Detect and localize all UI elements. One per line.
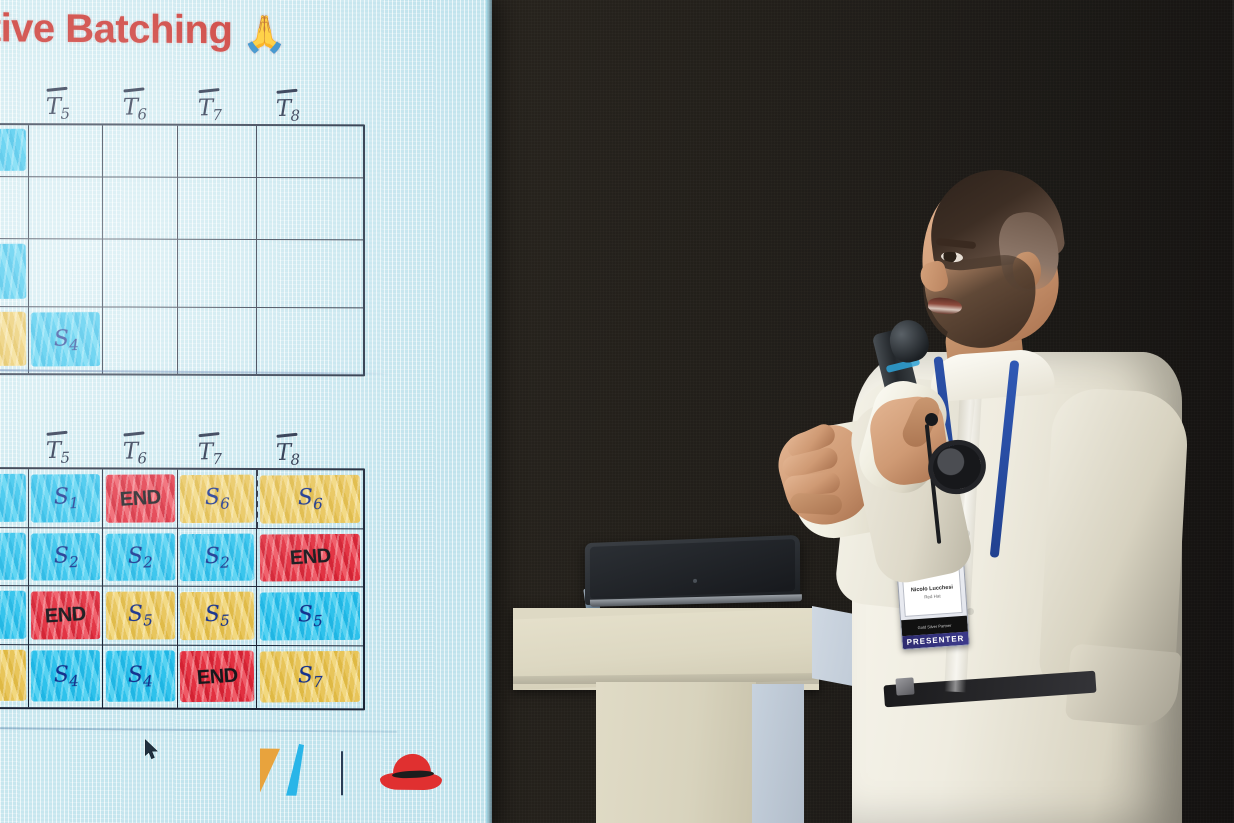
vllm-logo-right-wing [284,744,304,796]
cell-sequence-label: S1 [53,484,79,513]
cell-label-subscript: 5 [143,611,153,629]
table-cell: S7 [257,646,363,708]
table-cell: S3 [0,239,29,307]
cell-sequence-label: S5 [204,601,230,630]
table-cell [257,240,363,308]
upper-col-header-t5: T5 [46,94,71,123]
cell-end-marker: END [45,602,87,628]
upper-table-column-headers: T4 T5 T6 T7 T8 [0,86,370,126]
table-cell: S5 [103,586,177,645]
cell-highlight-blue [0,244,26,300]
podium-top [513,608,819,690]
lower-col-header-t7: T7 [198,439,223,468]
laptop-screen [590,539,795,599]
table-row [0,125,363,178]
table-cell: S2 [29,528,103,586]
cell-highlight-yellow [0,650,26,701]
lower-table-grid: S1ENDS6S6S2S2S2S2ENDS3ENDS5S5S5S4S4S4END… [0,467,365,710]
cell-sequence-label: S6 [297,485,323,514]
praying-hands-emoji: 🙏 [242,13,286,54]
table-cell: S4 [29,307,103,373]
table-row: S4S4S4ENDS7 [0,645,363,708]
vertical-divider [341,751,343,795]
table-row: S4S4 [0,307,363,374]
table-cell [0,125,29,177]
table-cell [257,126,363,178]
cell-label-subscript: 2 [143,553,153,571]
cell-label-subscript: 6 [313,495,323,513]
cell-label-subscript: 5 [220,611,230,629]
cell-label-subscript: 2 [220,553,230,571]
table-cell [257,308,363,374]
screen-right-edge [486,0,492,823]
table-row: S1ENDS6S6 [0,469,363,529]
table-cell: END [29,586,103,645]
cell-sequence-label: S5 [297,602,323,631]
projection-screen: ative Batching🙏 T4 T5 T6 T7 [0,0,492,823]
table-cell [103,125,177,177]
cell-highlight-yellow [0,312,26,367]
table-cell: S6 [257,470,363,529]
table-cell: S1 [29,469,103,528]
table-row: S3 [0,239,363,308]
cell-sequence-label: S4 [53,662,79,691]
cell-highlight-blue [0,532,26,579]
cell-sequence-label: S4 [53,326,79,355]
table-cell [257,178,363,240]
cell-sequence-label: S2 [53,542,79,571]
slide-title: ative Batching🙏 [0,6,287,56]
table-cell: S2 [103,528,177,586]
lower-table-column-headers: T4 T5 T6 T7 T8 [0,430,370,470]
cell-highlight-blue [0,590,26,638]
badge-attendee-org: Red Hat [924,593,941,599]
cell-sequence-label: S7 [297,663,323,692]
table-cell [103,307,177,373]
cell-label-subscript: 4 [68,672,78,690]
cell-label-subscript: 7 [313,673,323,691]
photo-scene: ative Batching🙏 T4 T5 T6 T7 [0,0,1234,823]
cell-end-marker: END [196,664,238,690]
cell-label-subscript: 5 [313,612,323,630]
table-cell: END [257,529,363,587]
vllm-logo [260,749,314,801]
lower-col-header-t6: T6 [123,438,148,467]
cell-sequence-label: S6 [204,484,230,513]
cell-label-subscript: 1 [68,494,78,512]
table-cell [103,239,177,307]
table-row: S2S2S2S2END [0,528,363,587]
cell-label-subscript: 2 [68,552,78,570]
cell-sequence-label: S4 [127,662,153,691]
table-cell: S3 [0,586,29,645]
cell-dashed-separator [257,470,258,528]
podium-column [596,682,756,823]
lower-batching-table: T4 T5 T6 T7 T8 S1ENDS6S6S2S2S2S2ENDS [0,430,370,712]
table-cell: S4 [103,645,177,707]
table-cell: S5 [178,587,257,646]
table-cell: S4 [29,645,103,707]
table-cell: S2 [178,529,257,587]
table-cell [178,308,257,374]
footer-rule [0,727,397,733]
table-cell: S2 [0,528,29,586]
badge-attendee-name: Nicolo Lucchesi [911,584,954,593]
table-cell [0,469,29,528]
upper-batching-table: T4 T5 T6 T7 T8 S3S4S4 [0,86,370,378]
table-cell: END [103,469,177,528]
slide-title-text: ative Batching [0,6,232,52]
cell-label-subscript: 4 [143,672,153,690]
cell-label-subscript: 4 [68,336,78,354]
laptop-camera-icon [693,579,697,583]
shirt-button [967,608,974,615]
lower-col-header-t8: T8 [276,440,301,469]
table-row [0,177,363,240]
podium-column-side [752,684,804,823]
cell-sequence-label: S2 [204,543,230,572]
table-row: S3ENDS5S5S5 [0,586,363,646]
table-cell [178,178,257,240]
upper-table-grid: S3S4S4 [0,123,365,376]
table-cell: S4 [0,307,29,373]
table-cell: S6 [178,470,257,529]
table-cell [0,177,29,239]
cell-label-subscript: 6 [220,494,230,512]
presenter-finger [790,493,843,516]
cell-sequence-label: S2 [127,543,153,572]
red-hat-logo [380,754,442,795]
belt-buckle [895,677,914,695]
upper-col-header-t6: T6 [123,94,148,123]
table-cell: S5 [257,587,363,646]
table-cell [178,126,257,178]
table-cell: S4 [0,645,29,707]
table-cell: END [178,646,257,708]
table-cell [103,177,177,239]
table-cell [178,240,257,308]
cell-highlight-blue [0,473,26,521]
mouse-pointer-icon [145,740,159,760]
cell-sequence-label: S5 [127,601,153,630]
cell-end-marker: END [289,545,331,571]
cell-end-marker: END [119,486,161,512]
vllm-logo-left-wing [260,749,280,793]
table-cell [29,125,103,177]
cell-highlight-blue [0,129,26,171]
table-cell [29,177,103,239]
upper-col-header-t7: T7 [198,95,223,124]
upper-col-header-t8: T8 [276,96,301,125]
table-cell [29,239,103,307]
lower-col-header-t5: T5 [46,438,71,467]
